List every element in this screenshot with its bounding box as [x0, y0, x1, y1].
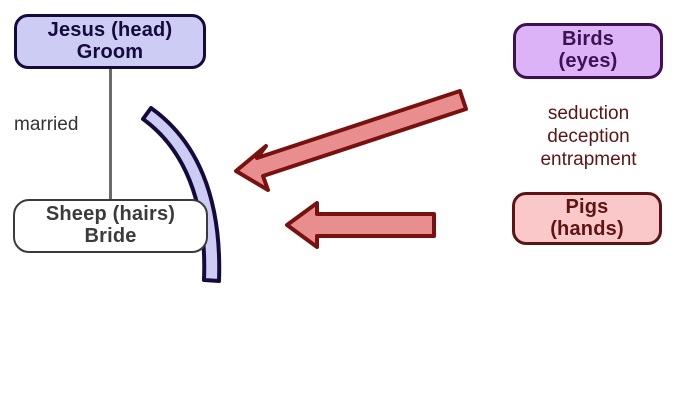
vices-line3: entrapment — [511, 149, 666, 172]
horizontal-attack-arrow — [287, 203, 434, 247]
node-birds-line1: Birds — [562, 29, 614, 51]
node-pigs-line2: (hands) — [550, 219, 624, 241]
diagram-canvas: married Jesus (head) Groom Sheep (hairs)… — [0, 0, 688, 412]
vices-text-block: seduction deception entrapment — [511, 103, 666, 172]
vices-line2: deception — [511, 126, 666, 149]
vices-line1: seduction — [511, 103, 666, 126]
protective-arc — [143, 108, 219, 281]
node-jesus-line1: Jesus (head) — [48, 20, 173, 42]
diagonal-attack-arrow — [236, 91, 466, 190]
node-birds-line2: (eyes) — [558, 51, 617, 73]
node-birds-eyes[interactable]: Birds (eyes) — [513, 23, 663, 79]
node-pigs-hands[interactable]: Pigs (hands) — [512, 192, 662, 245]
node-jesus-line2: Groom — [77, 42, 144, 64]
node-sheep-line2: Bride — [84, 226, 136, 248]
node-pigs-line1: Pigs — [565, 197, 608, 219]
node-sheep-line1: Sheep (hairs) — [46, 204, 175, 226]
node-jesus-groom[interactable]: Jesus (head) Groom — [14, 14, 206, 69]
node-sheep-bride[interactable]: Sheep (hairs) Bride — [13, 199, 208, 253]
